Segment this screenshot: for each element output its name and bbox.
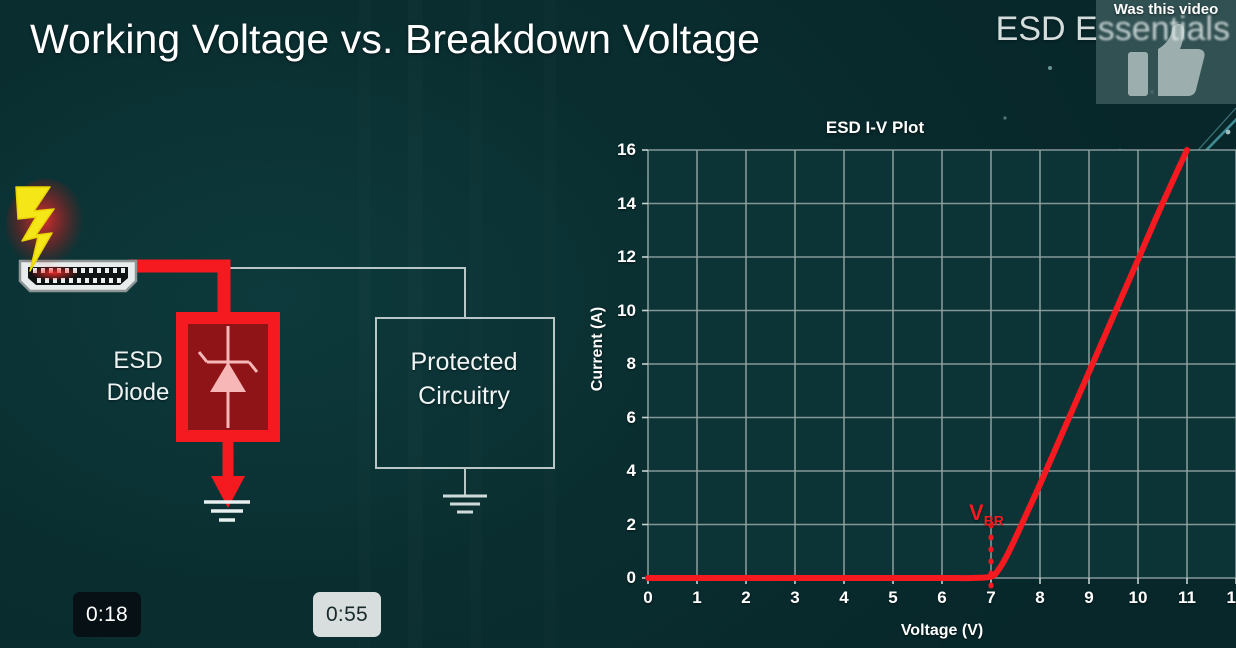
lightning-bolt-icon bbox=[4, 175, 100, 287]
timestamp-current[interactable]: 0:18 bbox=[73, 592, 141, 637]
vbr-main-label: V bbox=[969, 500, 984, 525]
feedback-overlay[interactable]: Was this video bbox=[1096, 0, 1236, 104]
timestamp-total[interactable]: 0:55 bbox=[313, 592, 381, 637]
page-title: Working Voltage vs. Breakdown Voltage bbox=[30, 16, 760, 63]
thumbs-up-icon[interactable] bbox=[1126, 22, 1206, 100]
vbr-sub-label: BR bbox=[984, 513, 1004, 529]
video-frame: Working Voltage vs. Breakdown Voltage ES… bbox=[0, 0, 1236, 648]
esd-iv-chart: ESD I-V Plot Current (A) Voltage (V) 024… bbox=[575, 110, 1236, 648]
plot-area bbox=[575, 110, 1236, 648]
protected-label-line2: Circuitry bbox=[418, 382, 510, 410]
esd-diode-label-line2: Diode bbox=[107, 379, 170, 406]
circuit-diagram: ESD Diode Protected Circuitry bbox=[0, 160, 600, 560]
esd-diode-label: ESD Diode bbox=[92, 345, 184, 409]
feedback-prompt: Was this video bbox=[1114, 1, 1218, 18]
protected-label-line1: Protected bbox=[410, 348, 517, 376]
protected-circuitry-label: Protected Circuitry bbox=[378, 346, 550, 413]
esd-diode-label-line1: ESD bbox=[113, 347, 162, 374]
breakdown-voltage-annotation: VBR bbox=[969, 500, 1004, 528]
